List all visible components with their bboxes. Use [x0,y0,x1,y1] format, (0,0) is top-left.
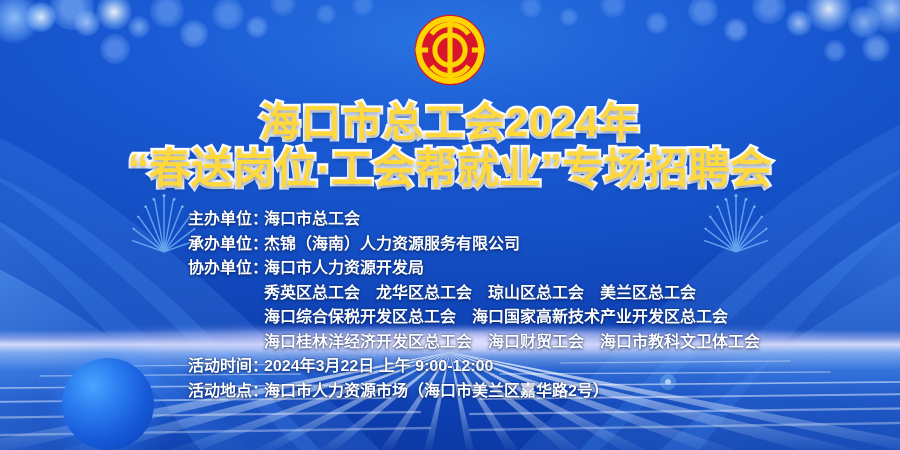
info-row: 承办单位：杰锦（海南）人力资源服务有限公司 [188,233,760,258]
info-row: 主办单位：海口综合保税开发区总工会 海口国家高新技术产业开发区总工会 [188,306,760,331]
title-line-1: 海口市总工会2024年 [0,100,900,146]
info-row-value: 2024年3月22日 上午 9:00-12:00 [264,355,760,380]
info-row: 主办单位：秀英区总工会 龙华区总工会 琼山区总工会 美兰区总工会 [188,282,760,307]
info-row-value: 秀英区总工会 龙华区总工会 琼山区总工会 美兰区总工会 [264,282,760,307]
title-line-2: “春送岗位·工会帮就业”专场招聘会 [0,146,900,192]
info-row-label: 活动时间： [188,355,264,380]
acftu-union-emblem-icon [408,8,492,92]
info-row: 活动地点：海口市人力资源市场（海口市美兰区嘉华路2号） [188,380,760,405]
info-row: 主办单位：海口桂林洋经济开发区总工会 海口财贸工会 海口市教科文卫体工会 [188,331,760,356]
info-row-value: 海口市人力资源市场（海口市美兰区嘉华路2号） [264,380,760,405]
info-row-value: 杰锦（海南）人力资源服务有限公司 [264,233,760,258]
info-row-value: 海口市人力资源开发局 [264,257,760,282]
info-row: 协办单位：海口市人力资源开发局 [188,257,760,282]
info-row-value: 海口综合保税开发区总工会 海口国家高新技术产业开发区总工会 [264,306,760,331]
info-row-value: 海口市总工会 [264,208,760,233]
info-row-value: 海口桂林洋经济开发区总工会 海口财贸工会 海口市教科文卫体工会 [264,331,760,356]
decorative-glowing-sphere [62,358,154,450]
info-row-label: 主办单位： [188,208,264,233]
event-info-block: 主办单位：海口市总工会承办单位：杰锦（海南）人力资源服务有限公司协办单位：海口市… [188,208,760,404]
info-row-label: 协办单位： [188,257,264,282]
info-row-label: 活动地点： [188,380,264,405]
recruitment-fair-poster: 海口市总工会2024年 “春送岗位·工会帮就业”专场招聘会 主办单位：海口市总工… [0,0,900,450]
poster-title: 海口市总工会2024年 “春送岗位·工会帮就业”专场招聘会 [0,100,900,192]
info-row-label: 承办单位： [188,233,264,258]
info-row: 活动时间：2024年3月22日 上午 9:00-12:00 [188,355,760,380]
info-row: 主办单位：海口市总工会 [188,208,760,233]
